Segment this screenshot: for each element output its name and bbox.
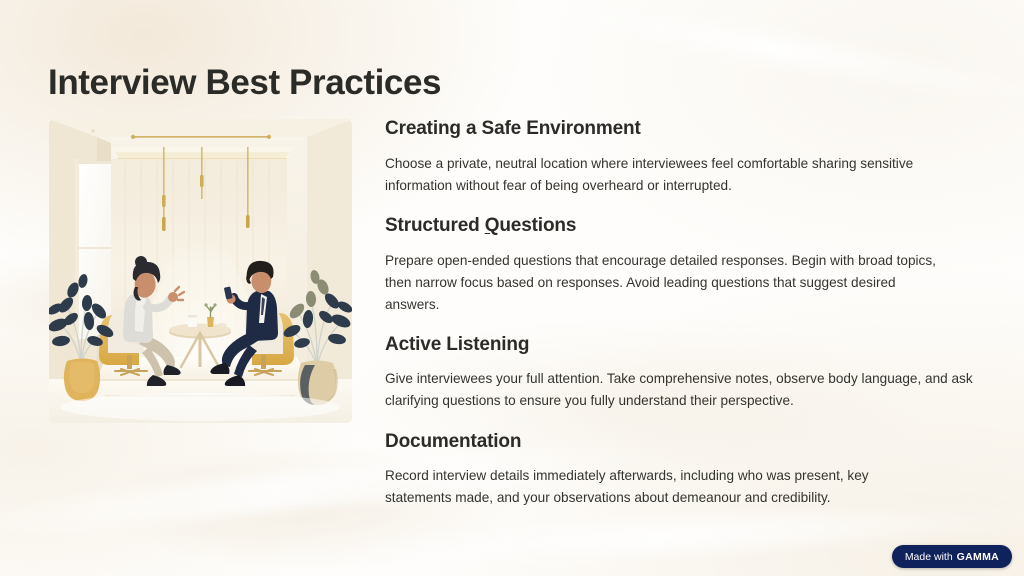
background-streak [542, 0, 1024, 111]
section-creating-a-safe-environment: Creating a Safe Environment Choose a pri… [385, 118, 985, 197]
section-body: Record interview details immediately aft… [385, 465, 915, 509]
section-body: Give interviewees your full attention. T… [385, 368, 975, 412]
made-with-gamma-prefix: Made with [905, 551, 953, 563]
section-heading-suffix: uestions [499, 215, 576, 236]
interview-scene-graphic [49, 119, 352, 423]
made-with-gamma-brand: GAMMA [957, 551, 999, 563]
section-heading: Documentation [385, 431, 985, 454]
section-heading: Creating a Safe Environment [385, 118, 985, 141]
interview-illustration [49, 119, 352, 423]
section-heading: Structured Questions [385, 215, 985, 238]
page-title: Interview Best Practices [48, 62, 441, 104]
section-heading: Active Listening [385, 334, 985, 357]
section-active-listening: Active Listening Give interviewees your … [385, 334, 985, 413]
content-column: Creating a Safe Environment Choose a pri… [385, 118, 985, 509]
section-structured-questions: Structured Questions Prepare open-ended … [385, 215, 985, 316]
made-with-gamma-badge[interactable]: Made with GAMMA [892, 545, 1012, 568]
section-body: Prepare open-ended questions that encour… [385, 250, 947, 316]
section-heading-underlined-letter: Q [485, 215, 500, 236]
section-heading-prefix: Structured [385, 215, 485, 236]
section-body: Choose a private, neutral location where… [385, 153, 975, 197]
section-documentation: Documentation Record interview details i… [385, 431, 985, 510]
slide: Interview Best Practices [0, 0, 1024, 576]
